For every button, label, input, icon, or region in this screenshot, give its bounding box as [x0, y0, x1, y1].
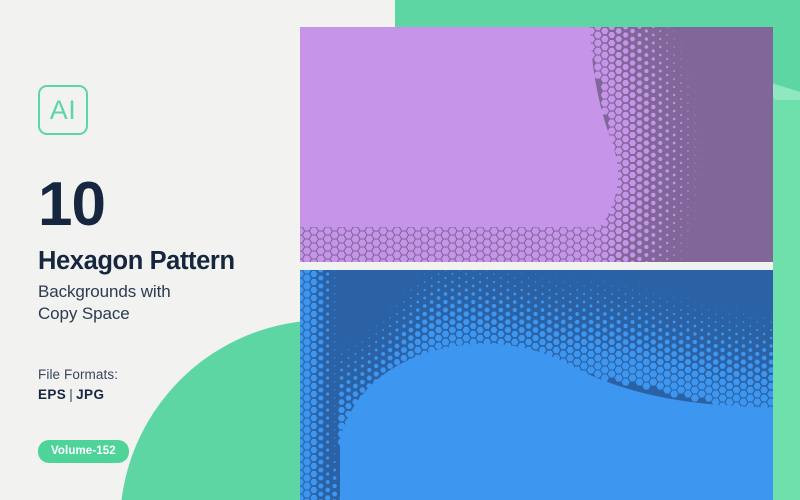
volume-badge: Volume-152	[38, 440, 129, 463]
green-edge-right	[773, 100, 800, 500]
file-formats-value: EPS|JPG	[38, 387, 288, 402]
ai-badge-label: AI	[50, 95, 77, 126]
format-jpg: JPG	[76, 387, 104, 402]
poster-canvas: AI 10 Hexagon Pattern Backgrounds with C…	[0, 0, 800, 500]
subtitle-line-2: Copy Space	[38, 303, 288, 325]
format-eps: EPS	[38, 387, 66, 402]
format-separator: |	[66, 387, 76, 402]
page-subtitle: Backgrounds with Copy Space	[38, 281, 288, 325]
blue-hexagon-preview[interactable]	[300, 270, 773, 500]
purple-hexagon-preview[interactable]	[300, 27, 773, 262]
info-column: AI 10 Hexagon Pattern Backgrounds with C…	[38, 85, 288, 463]
ai-format-badge: AI	[38, 85, 88, 135]
page-title: Hexagon Pattern	[38, 248, 288, 275]
item-count: 10	[38, 179, 288, 232]
file-formats-label: File Formats:	[38, 367, 288, 382]
subtitle-line-1: Backgrounds with	[38, 281, 288, 303]
